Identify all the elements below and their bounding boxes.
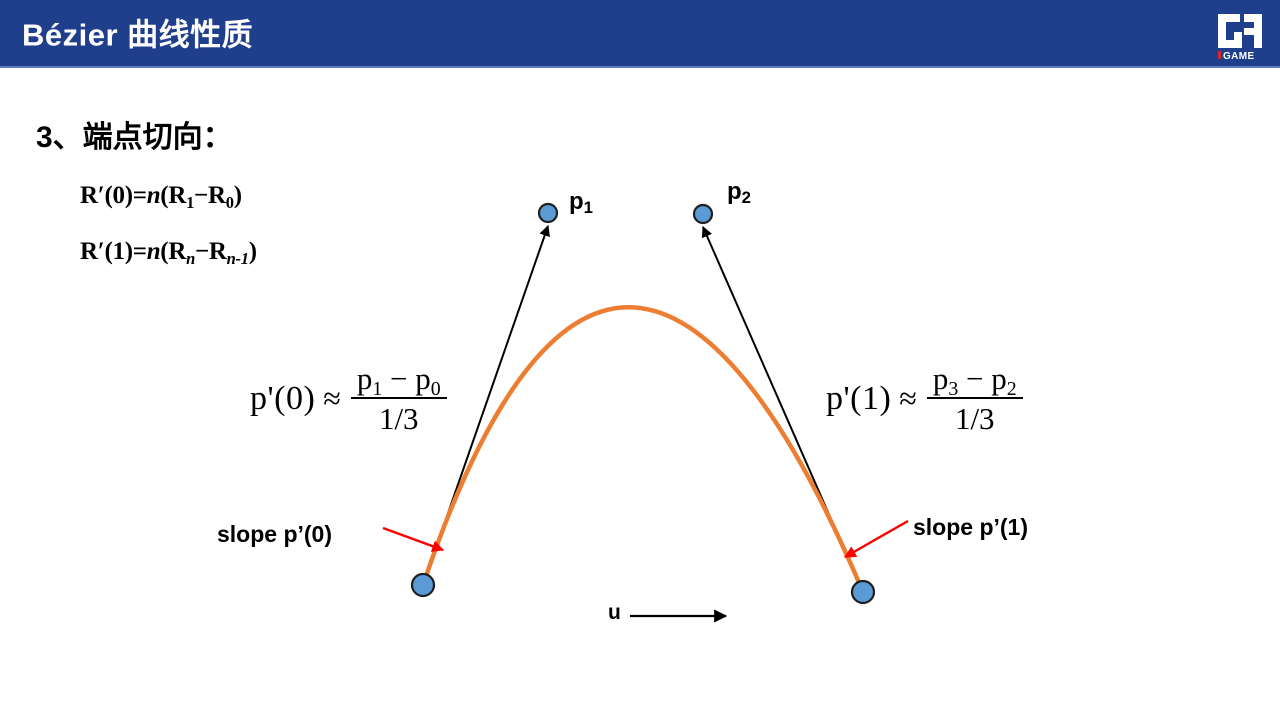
cp-label-p1-base: p	[569, 188, 584, 215]
cp-label-p1-sub: 1	[584, 198, 593, 217]
formula-open: (R	[160, 182, 186, 209]
control-point-p3[interactable]	[852, 581, 874, 603]
fraction-denominator: 1/3	[949, 399, 1001, 435]
igame-logo: GAME	[1210, 6, 1270, 62]
formula-sub-1: 1	[186, 193, 194, 212]
bezier-curve	[423, 307, 863, 592]
control-point-p0[interactable]	[412, 574, 434, 596]
slope-start-fraction: p1 − p0 1/3	[351, 362, 447, 436]
slope-end-pointer-arrow	[845, 521, 908, 557]
num-term-b-sub: 0	[431, 378, 441, 400]
formula-open: (R	[160, 238, 186, 265]
num-term-b: p	[415, 361, 431, 396]
formula-close: )	[234, 182, 242, 209]
bezier-figure	[0, 0, 1280, 720]
approx-sign: ≈	[899, 380, 917, 417]
formula-derivative-at-0: R′(0)=n(R1−R0)	[80, 182, 242, 210]
slope-end-fraction: p3 − p2 1/3	[927, 362, 1023, 436]
slope-end-lhs: p'(1)	[826, 380, 891, 418]
control-point-label-p2: p2	[727, 178, 751, 206]
formula-close: )	[249, 238, 257, 265]
logo-g-mark	[1218, 14, 1262, 48]
title-banner: Bézier 曲线性质 GAME	[0, 0, 1280, 68]
section-heading: 3、端点切向：	[36, 112, 233, 156]
num-term-a: p	[933, 361, 949, 396]
formula-derivative-at-1: R′(1)=n(Rn−Rn-1)	[80, 238, 257, 266]
slope-start-pointer-arrow	[383, 528, 443, 550]
slope-start-lhs: p'(0)	[250, 380, 315, 418]
control-point-label-p1: p1	[569, 188, 593, 216]
cp-label-p2-sub: 2	[742, 188, 751, 207]
num-term-b-sub: 2	[1007, 378, 1017, 400]
slope-end-label: slope p’(1)	[913, 514, 1028, 541]
formula-sub-1: n	[186, 249, 195, 268]
page-title: Bézier 曲线性质	[22, 10, 253, 55]
slope-start-label: slope p’(0)	[217, 521, 332, 548]
approx-sign: ≈	[323, 380, 341, 417]
control-point-p2[interactable]	[694, 205, 712, 223]
control-point-p1[interactable]	[539, 204, 557, 222]
formula-minus: −R	[195, 238, 227, 265]
formula-lhs: R′(1)=	[80, 238, 147, 265]
parameter-axis-label: u	[608, 601, 621, 625]
formula-sub-2: 0	[226, 193, 234, 212]
cp-label-p2-base: p	[727, 178, 742, 205]
fraction-numerator: p1 − p0	[351, 362, 447, 397]
fraction-denominator: 1/3	[373, 399, 425, 435]
fraction-numerator: p3 − p2	[927, 362, 1023, 397]
num-operator: −	[390, 361, 407, 396]
num-term-a-sub: 1	[372, 378, 382, 400]
formula-slope-end: p'(1) ≈ p3 − p2 1/3	[826, 362, 1023, 436]
formula-n: n	[147, 182, 161, 209]
num-operator: −	[966, 361, 983, 396]
logo-wordmark: GAME	[1218, 51, 1255, 62]
formula-minus: −R	[194, 182, 226, 209]
formula-slope-start: p'(0) ≈ p1 − p0 1/3	[250, 362, 447, 436]
num-term-a: p	[357, 361, 373, 396]
svg-text:GAME: GAME	[1223, 51, 1255, 62]
num-term-a-sub: 3	[948, 378, 958, 400]
formula-n: n	[147, 238, 161, 265]
num-term-b: p	[991, 361, 1007, 396]
formula-lhs: R′(0)=	[80, 182, 147, 209]
formula-sub-2: n-1	[227, 249, 249, 268]
